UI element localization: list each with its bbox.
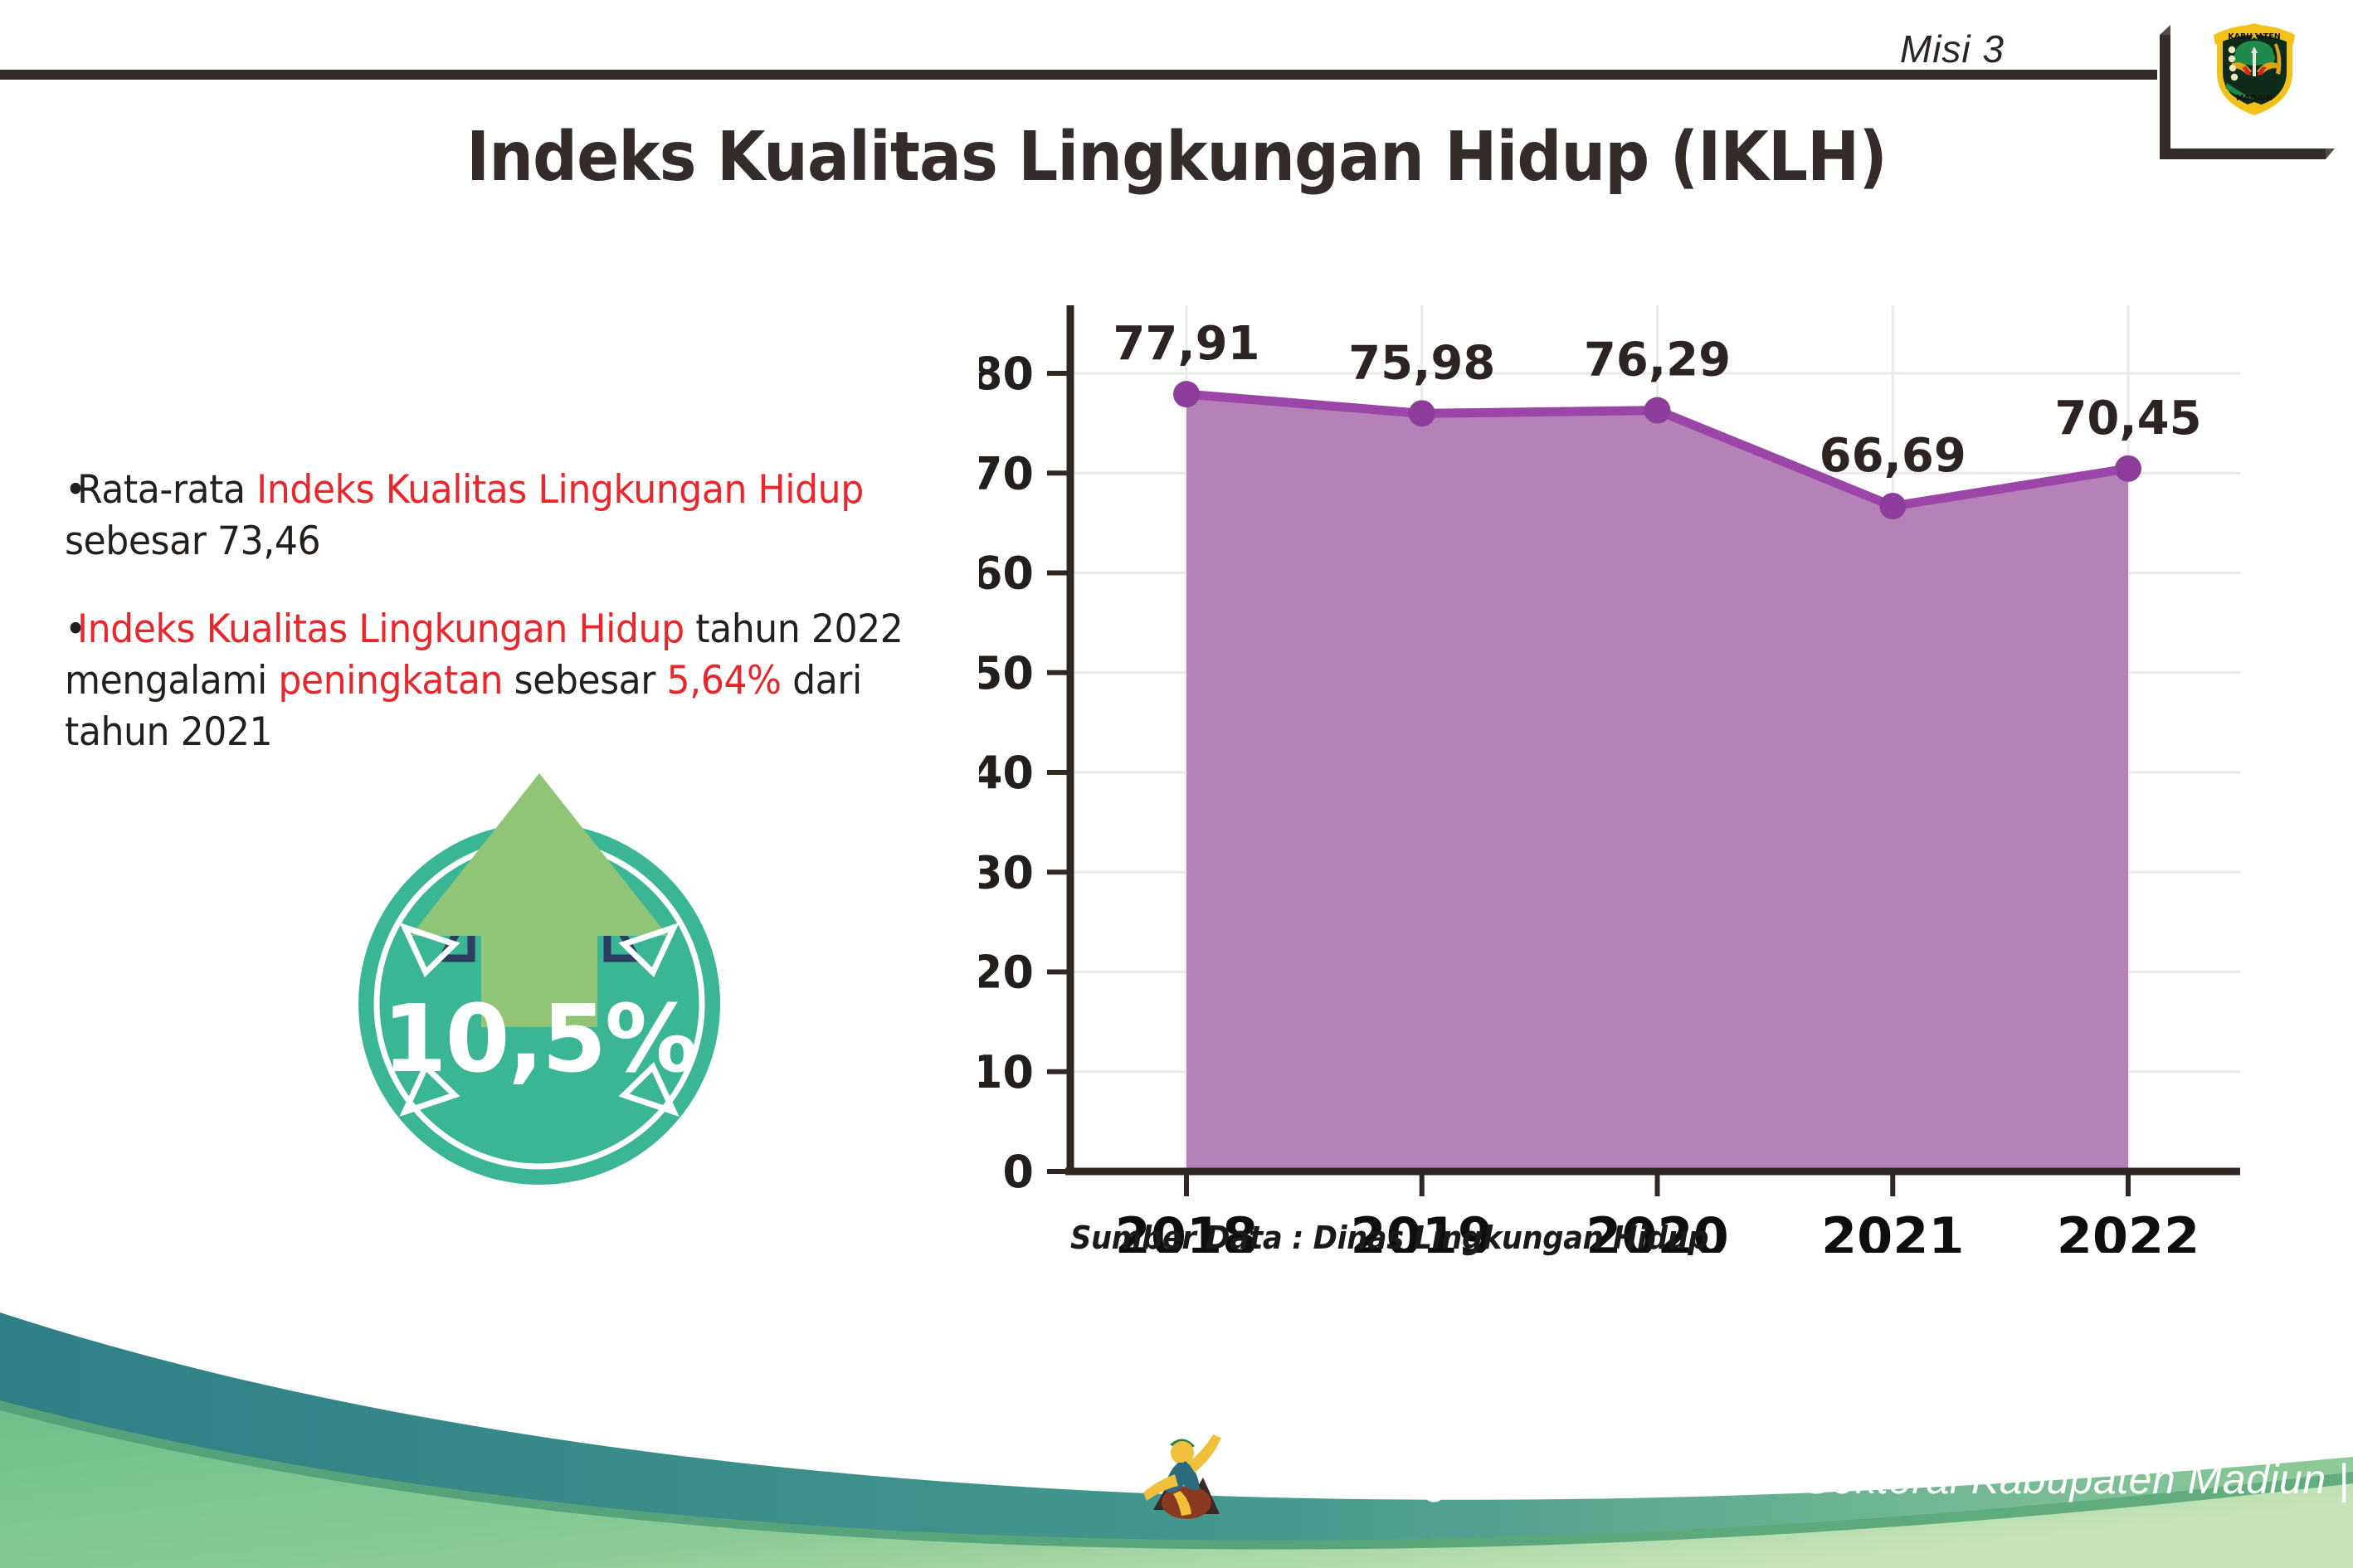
data-value-label: 76,29 (1584, 334, 1731, 387)
chart-y-axis-labels: 01020304050607080 (979, 348, 1034, 1198)
x-axis-tick-label: 2021 (1821, 1206, 1965, 1253)
emblem-bottom-text: MADIUN (2236, 94, 2273, 103)
iklh-area-chart: 01020304050607080 20182019202020212022 7… (979, 274, 2307, 1253)
chart-svg: 01020304050607080 20182019202020212022 7… (979, 274, 2307, 1253)
data-point-marker (1173, 381, 1200, 407)
data-point-marker (1644, 397, 1671, 424)
bullet-item: •Rata-rata Indeks Kualitas Lingkungan Hi… (65, 465, 915, 567)
bullet-text: sebesar 73,46 (65, 519, 320, 564)
y-axis-tick-label: 70 (979, 447, 1034, 499)
y-axis-tick-label: 80 (979, 348, 1034, 400)
x-axis-tick-label: 2022 (2057, 1206, 2200, 1253)
footer-caption: Media Infografis Data Statistik Sektoral… (1228, 1455, 2350, 1503)
data-point-marker (1879, 493, 1906, 519)
y-axis-tick-label: 60 (979, 548, 1034, 600)
bullet-text: Rata-rata (77, 467, 256, 513)
y-axis-tick-label: 10 (979, 1046, 1034, 1098)
data-value-label: 75,98 (1348, 336, 1495, 390)
summary-bullets: •Rata-rata Indeks Kualitas Lingkungan Hi… (65, 465, 969, 795)
increase-badge: 10,5% (332, 763, 747, 1195)
chart-area-series (1186, 394, 2128, 1171)
bullet-highlight-text: peningkatan (278, 658, 503, 704)
badge-graphic (332, 763, 747, 1195)
y-axis-tick-label: 40 (979, 747, 1034, 799)
kabupaten-madiun-emblem-icon: KABUPATEN MADIUN (2207, 15, 2302, 119)
bullet-item: •Indeks Kualitas Lingkungan Hidup tahun … (65, 604, 915, 758)
misi-label: Misi 3 (1900, 27, 2005, 71)
data-point-marker (2115, 455, 2141, 482)
bullet-highlight-text: 5,64% (667, 658, 782, 704)
data-point-marker (1409, 400, 1435, 426)
y-axis-tick-label: 0 (1002, 1146, 1034, 1198)
area-fill (1186, 394, 2128, 1171)
bullet-highlight-text: Indeks Kualitas Lingkungan Hidup (256, 467, 864, 513)
y-axis-tick-label: 50 (979, 647, 1034, 699)
bullet-text: sebesar (503, 658, 667, 704)
page-title: Indeks Kualitas Lingkungan Hidup (IKLH) (94, 118, 2258, 197)
dancer-logo-icon (1138, 1423, 1230, 1539)
data-value-label: 66,69 (1820, 429, 1966, 483)
bullet-highlight-text: Indeks Kualitas Lingkungan Hidup (77, 606, 684, 652)
bullet-marker: • (65, 604, 77, 655)
header-divider-rule (0, 70, 2157, 80)
data-value-label: 77,91 (1113, 317, 1259, 371)
y-axis-tick-label: 30 (979, 846, 1034, 898)
source-note: Sumber Data : Dinas Lingkungan Hidup (1070, 1220, 1708, 1256)
y-axis-tick-label: 20 (979, 947, 1034, 999)
badge-value-label: 10,5% (332, 986, 747, 1093)
bullet-marker: • (65, 465, 77, 516)
data-value-label: 70,45 (2054, 392, 2201, 446)
